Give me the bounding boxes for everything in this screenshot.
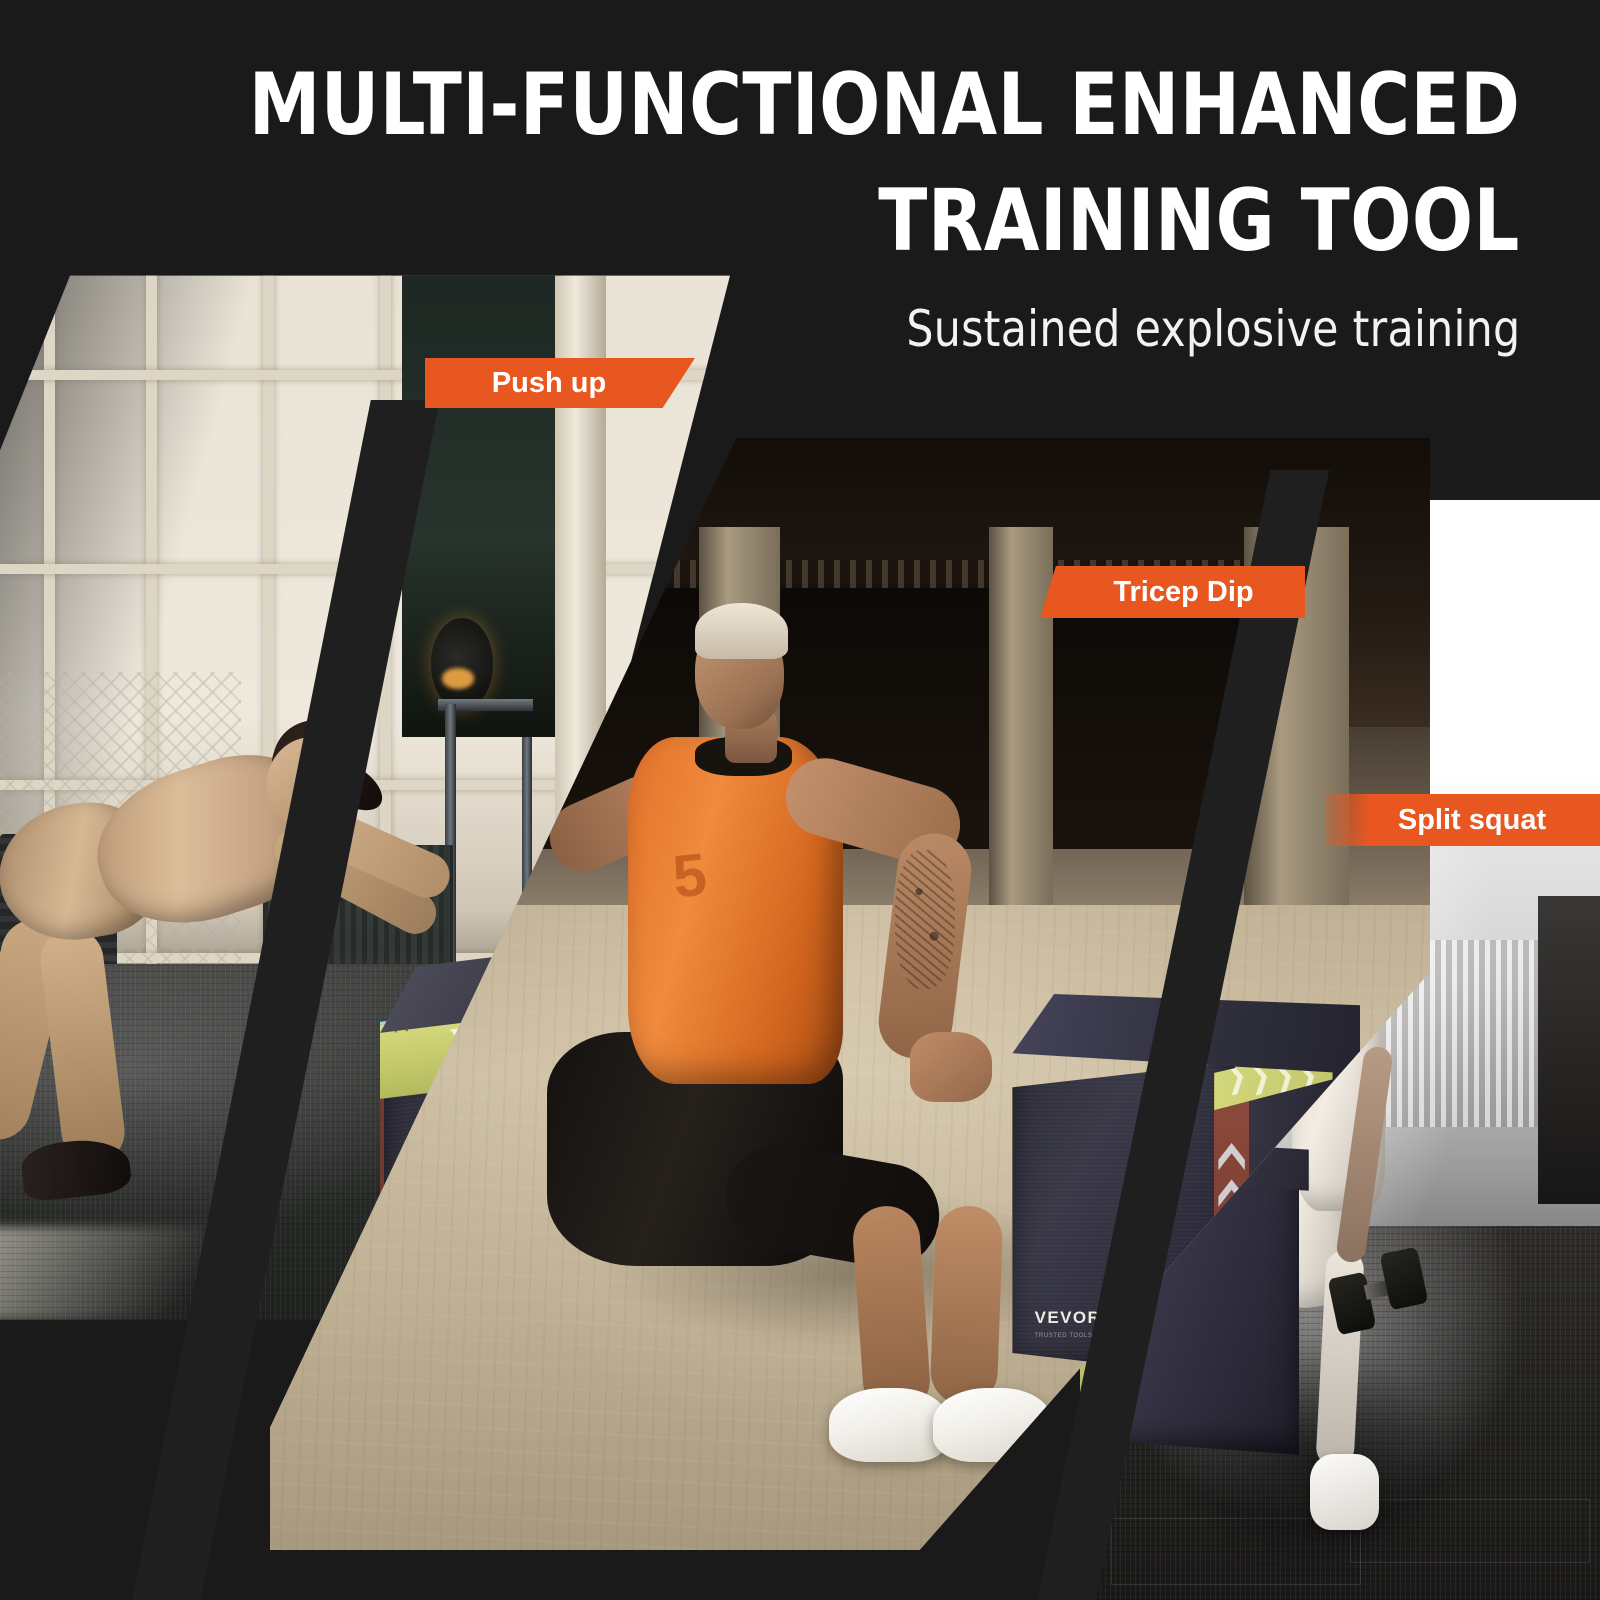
dumbbell [1380,1246,1429,1310]
leg [36,925,127,1167]
badge-split-squat: Split squat [1326,794,1600,846]
tattoo [895,850,954,989]
hair [695,603,788,659]
front-shoe [1310,1454,1380,1531]
equipment-rack [1538,896,1600,1204]
shoe [933,1388,1052,1462]
page-title-line-2: TRAINING TOOL [878,178,1520,264]
jersey-number: 5 [670,840,710,912]
badge-tricep-dip: Tricep Dip [1040,566,1305,618]
badge-label: Push up [492,367,606,400]
shoe [829,1388,948,1462]
page-subtitle: Sustained explosive training [906,300,1520,358]
badge-label: Tricep Dip [1113,576,1253,609]
hand [910,1032,992,1101]
badge-push-up: Push up [425,358,695,408]
page-title-line-1: MULTI-FUNCTIONAL ENHANCED [248,62,1520,148]
badge-label: Split squat [1398,804,1546,837]
promo-poster: 12 VEVOR TRUSTED T [0,0,1600,1600]
ceiling-light-icon [431,618,493,710]
shin [929,1205,1003,1407]
